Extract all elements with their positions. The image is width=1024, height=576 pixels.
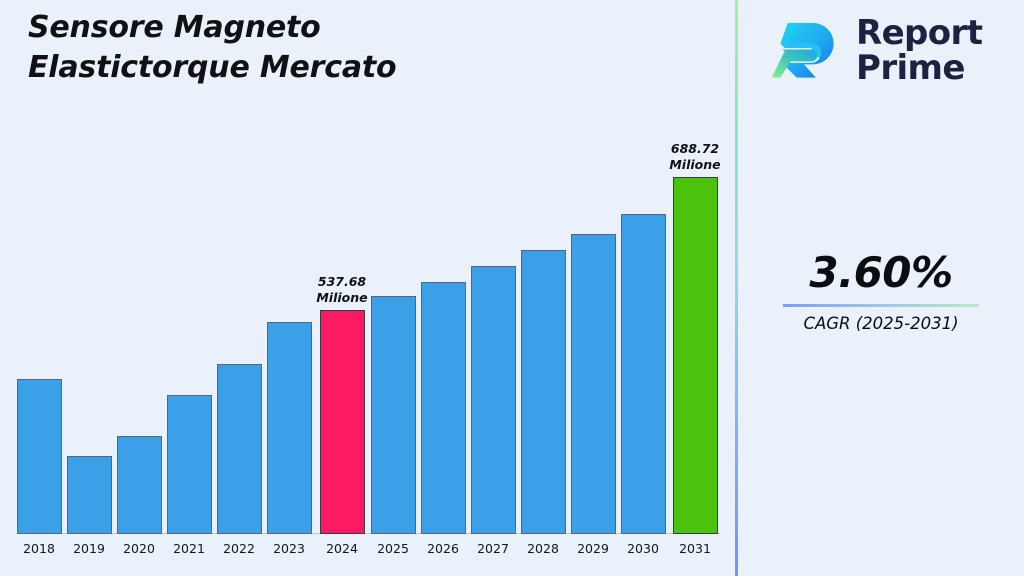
bar-2018[interactable]	[17, 379, 62, 534]
bar-value-2031-number: 688.72	[650, 141, 740, 157]
bar-2025[interactable]	[371, 296, 416, 534]
x-tick-2031: 2031	[665, 541, 725, 556]
bar-value-2024-unit: Milione	[297, 290, 387, 306]
bar-chart-plot: 537.68 Milione 688.72 Milione 2018 2019 …	[0, 0, 735, 576]
bar-2027[interactable]	[471, 266, 516, 534]
chart-panel: Sensore Magneto Elastictorque Mercato 53…	[0, 0, 735, 576]
bar-2029[interactable]	[571, 234, 616, 534]
bar-value-2024-number: 537.68	[297, 274, 387, 290]
bar-2023[interactable]	[267, 322, 312, 534]
bar-value-2024: 537.68 Milione	[297, 274, 387, 305]
x-tick-2030: 2030	[613, 541, 673, 556]
bar-value-2031: 688.72 Milione	[650, 141, 740, 172]
x-tick-2023: 2023	[259, 541, 319, 556]
bar-value-2031-unit: Milione	[650, 157, 740, 173]
report-prime-r-logo-icon	[770, 14, 844, 88]
bar-2020[interactable]	[117, 436, 162, 534]
bar-2026[interactable]	[421, 282, 466, 534]
cagr-block: 3.60% CAGR (2025-2031)	[738, 250, 1024, 333]
bar-2024[interactable]	[320, 310, 365, 534]
cagr-divider-rule	[783, 304, 979, 307]
brand-name: Report Prime	[856, 16, 982, 85]
bar-2022[interactable]	[217, 364, 262, 534]
cagr-value: 3.60%	[738, 250, 1024, 296]
bar-2030[interactable]	[621, 214, 666, 534]
brand-logo: Report Prime	[770, 14, 982, 88]
chart-screenshot: Sensore Magneto Elastictorque Mercato 53…	[0, 0, 1024, 576]
brand-name-line2: Prime	[856, 48, 965, 88]
bar-2031[interactable]	[673, 177, 718, 534]
bar-2021[interactable]	[167, 395, 212, 534]
cagr-caption: CAGR (2025-2031)	[738, 314, 1024, 333]
bar-2028[interactable]	[521, 250, 566, 534]
brand-panel: Report Prime 3.60% CAGR (2025-2031)	[738, 0, 1024, 576]
bar-2019[interactable]	[67, 456, 112, 534]
